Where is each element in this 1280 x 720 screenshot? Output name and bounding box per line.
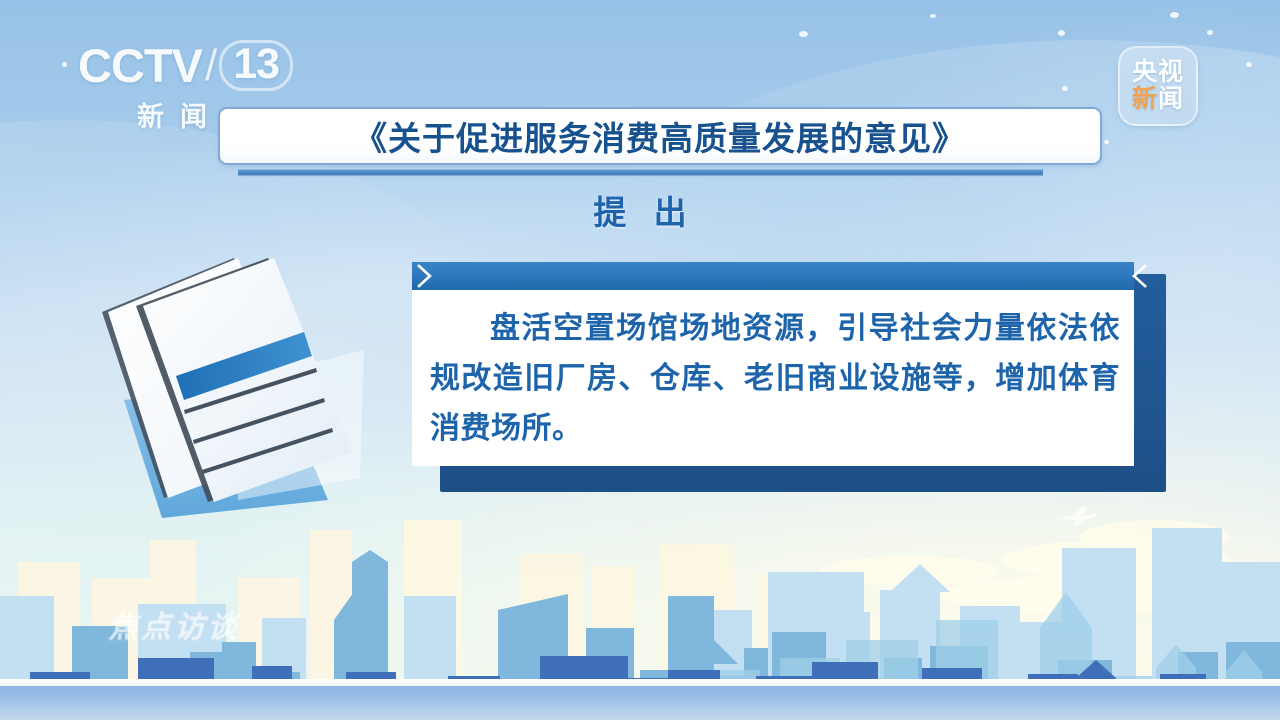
chevron-right-icon bbox=[414, 262, 438, 290]
sparkle-dot bbox=[930, 14, 936, 18]
news-badge-text-xin: 新 bbox=[1132, 86, 1158, 113]
broadcast-graphic: 焦点访谈 CCTV / 13 新闻 央视 新 闻 《关于促进服务消费高质量发展的… bbox=[0, 0, 1280, 720]
program-watermark: 焦点访谈 bbox=[108, 602, 240, 646]
headline-subword: 提 出 bbox=[0, 186, 1280, 234]
sparkle-dot bbox=[1170, 12, 1179, 18]
chevron-left-icon bbox=[1126, 262, 1150, 290]
sparkle-dot bbox=[1207, 30, 1213, 35]
cctv-logo-row: CCTV / 13 bbox=[78, 38, 293, 93]
page-title: 《关于促进服务消费高质量发展的意见》 bbox=[354, 112, 966, 160]
sparkle-dot bbox=[62, 62, 67, 67]
cctv-news-badge: 央视 新 闻 bbox=[1118, 46, 1198, 126]
sparkle-dot bbox=[1246, 62, 1252, 67]
document-illustration bbox=[88, 250, 398, 520]
sparkle-dot bbox=[1058, 30, 1065, 36]
cctv-wordmark: CCTV bbox=[78, 38, 202, 93]
statement-text: 盘活空置场馆场地资源，引导社会力量依法依规改造旧厂房、仓库、老旧商业设施等，增加… bbox=[430, 304, 1120, 454]
news-badge-text-yangshi: 央视 bbox=[1132, 59, 1184, 86]
sparkle-dot bbox=[1104, 140, 1109, 144]
cctv-slash: / bbox=[205, 41, 216, 91]
ground-band bbox=[0, 686, 1280, 720]
cctv-channel-number: 13 bbox=[219, 40, 293, 91]
news-badge-line-2: 新 闻 bbox=[1132, 86, 1184, 113]
news-badge-text-wen: 闻 bbox=[1158, 86, 1184, 113]
news-badge-line-1: 央视 bbox=[1132, 59, 1184, 86]
sparkle-dot bbox=[1062, 86, 1068, 91]
headline-title-box: 《关于促进服务消费高质量发展的意见》 bbox=[218, 107, 1102, 165]
panel-header-bar bbox=[412, 262, 1134, 290]
sparkle-dot bbox=[799, 31, 808, 37]
ground-divider bbox=[0, 679, 1280, 686]
statement-panel: 盘活空置场馆场地资源，引导社会力量依法依规改造旧厂房、仓库、老旧商业设施等，增加… bbox=[412, 260, 1152, 492]
headline-underline-bar bbox=[238, 168, 1043, 177]
